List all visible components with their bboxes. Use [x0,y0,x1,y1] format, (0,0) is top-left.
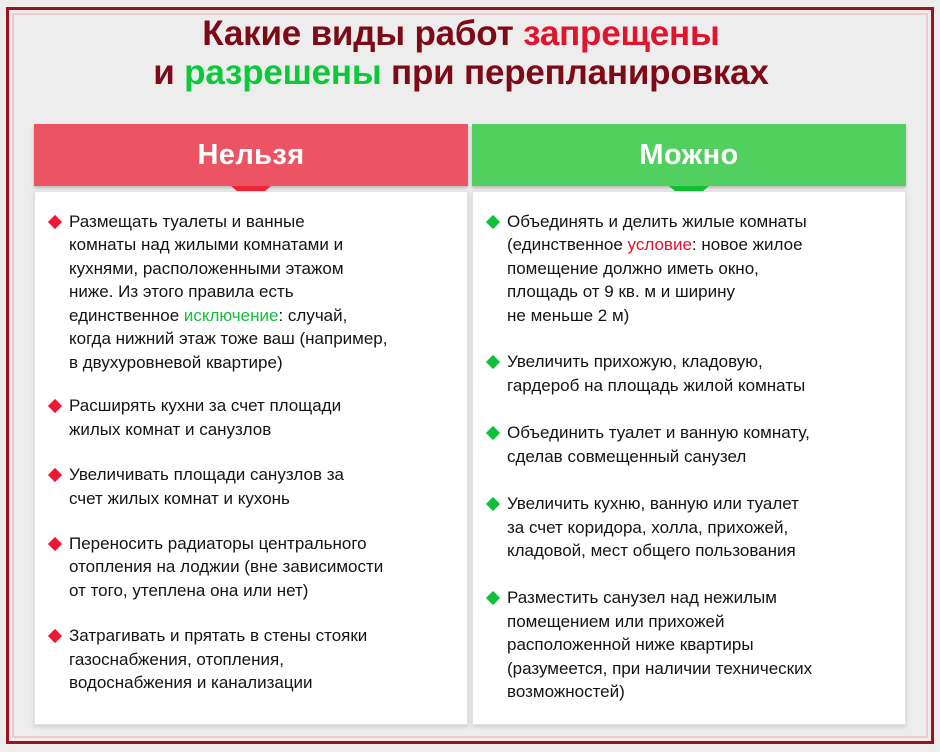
list-item-text: Расширять кухни за счет площади жилых ко… [69,396,341,438]
list-item-text: Затрагивать и прятать в стены стояки газ… [69,626,367,692]
list-item-emphasis: условие [628,235,692,254]
column-allowed-list: Объединять и делить жилые комнаты (единс… [472,191,906,725]
list-item-text: Увеличить кухню, ванную или туалет за сч… [507,494,799,560]
page-title-line-2: и разрешены при перепланировках [16,53,906,92]
red-diamond-bullet-icon [48,537,62,551]
list-item: Объединить туалет и ванную комнату, сдел… [485,421,891,468]
infographic-poster: Какие виды работ запрещены и разрешены п… [0,0,940,752]
green-diamond-bullet-icon [486,426,500,440]
list-item-text: Увеличивать площади санузлов за счет жил… [69,465,344,507]
green-diamond-bullet-icon [486,591,500,605]
list-item: Затрагивать и прятать в стены стояки газ… [47,624,453,694]
column-allowed: Можно Объединять и делить жилые комнаты … [472,124,906,725]
title-text-allowed: разрешены [184,53,381,92]
list-item: Увеличить кухню, ванную или туалет за сч… [485,492,891,562]
list-item-text: Переносить радиаторы центрального отопле… [69,534,383,600]
list-item-text: Увеличить прихожую, кладовую, гардероб н… [507,352,805,394]
list-item: Увеличить прихожую, кладовую, гардероб н… [485,350,891,397]
list-item: Разместить санузел над нежилым помещение… [485,586,891,703]
green-diamond-bullet-icon [486,497,500,511]
green-diamond-bullet-icon [486,215,500,229]
red-diamond-bullet-icon [48,215,62,229]
list-item: Увеличивать площади санузлов за счет жил… [47,463,453,510]
list-item: Расширять кухни за счет площади жилых ко… [47,394,453,441]
column-forbidden: Нельзя Размещать туалеты и ванные комнат… [34,124,468,725]
column-allowed-title: Можно [639,139,738,171]
list-item-emphasis: исключение [184,306,279,325]
red-diamond-bullet-icon [48,629,62,643]
page-title-line-1: Какие виды работ запрещены [16,14,906,53]
list-item-text: Разместить санузел над нежилым помещение… [507,588,812,701]
list-item: Размещать туалеты и ванные комнаты над ж… [47,210,453,374]
list-item-text: Объединить туалет и ванную комнату, сдел… [507,423,810,465]
column-forbidden-title: Нельзя [197,139,304,171]
list-item: Переносить радиаторы центрального отопле… [47,532,453,602]
column-forbidden-header: Нельзя [34,124,468,186]
title-text-dark-2: и [153,53,184,92]
green-diamond-bullet-icon [486,355,500,369]
column-allowed-header: Можно [472,124,906,186]
comparison-columns: Нельзя Размещать туалеты и ванные комнат… [0,124,940,734]
title-text-dark-3: при перепланировках [382,53,769,92]
red-diamond-bullet-icon [48,399,62,413]
list-item: Объединять и делить жилые комнаты (единс… [485,210,891,327]
column-forbidden-list: Размещать туалеты и ванные комнаты над ж… [34,191,468,725]
page-title: Какие виды работ запрещены и разрешены п… [16,14,906,92]
title-text-dark-1: Какие виды работ [202,14,523,53]
title-text-forbidden: запрещены [523,14,720,53]
red-diamond-bullet-icon [48,468,62,482]
